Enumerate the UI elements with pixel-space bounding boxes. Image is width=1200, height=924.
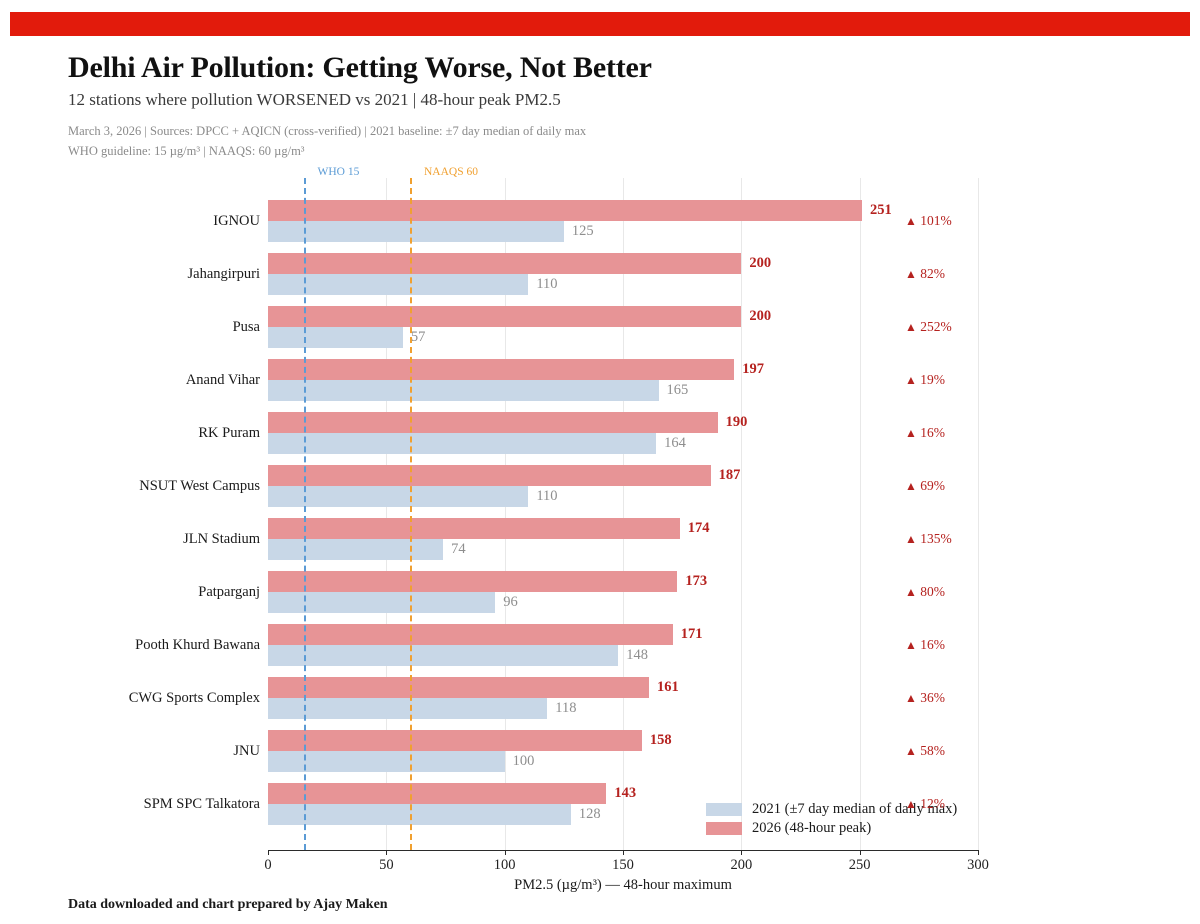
change-pct-label: 80% <box>920 584 945 599</box>
x-tick-label: 150 <box>612 857 634 874</box>
page-subtitle: 12 stations where pollution WORSENED vs … <box>68 90 1068 110</box>
triangle-up-icon: ▲ <box>905 797 917 811</box>
change-pct-label: 16% <box>920 637 945 652</box>
bar-value-2026: 200 <box>749 306 771 327</box>
change-pct-label: 252% <box>920 319 952 334</box>
bar-2021[interactable] <box>268 645 618 666</box>
legend-item[interactable]: 2026 (48-hour peak) <box>706 819 957 838</box>
x-tick <box>978 850 979 855</box>
change-pct-label: 19% <box>920 372 945 387</box>
bar-value-2021: 100 <box>513 751 535 772</box>
bar-2026[interactable] <box>268 730 642 751</box>
source-meta-line-1: March 3, 2026 | Sources: DPCC + AQICN (c… <box>68 121 1068 141</box>
chart-row: 197165 <box>268 359 978 401</box>
bar-value-2021: 128 <box>579 804 601 825</box>
gridline-300 <box>978 178 979 850</box>
bar-value-2021: 74 <box>451 539 466 560</box>
bar-value-2021: 125 <box>572 221 594 242</box>
triangle-up-icon: ▲ <box>905 373 917 387</box>
bar-2021[interactable] <box>268 592 495 613</box>
chart-row: 17396 <box>268 571 978 613</box>
top-red-banner <box>10 12 1190 36</box>
reference-label-who: WHO 15 <box>318 166 360 178</box>
bar-2026[interactable] <box>268 518 680 539</box>
bar-2021[interactable] <box>268 698 547 719</box>
change-badge: ▲ 80% <box>905 583 945 601</box>
bar-value-2026: 174 <box>688 518 710 539</box>
change-pct-label: 16% <box>920 425 945 440</box>
bar-value-2026: 173 <box>685 571 707 592</box>
triangle-up-icon: ▲ <box>905 638 917 652</box>
legend-label: 2026 (48-hour peak) <box>752 820 871 837</box>
bar-2026[interactable] <box>268 677 649 698</box>
chart-row: 158100 <box>268 730 978 772</box>
triangle-up-icon: ▲ <box>905 744 917 758</box>
chart-plot-area: 2511252001102005719716519016418711017474… <box>268 178 978 850</box>
x-axis-title: PM2.5 (µg/m³) — 48-hour maximum <box>268 877 978 894</box>
bar-value-2026: 158 <box>650 730 672 751</box>
change-pct-label: 12% <box>920 796 945 811</box>
change-badge: ▲ 16% <box>905 636 945 654</box>
change-badge: ▲ 69% <box>905 477 945 495</box>
change-pct-label: 36% <box>920 690 945 705</box>
category-label: Pusa <box>30 318 260 336</box>
change-badge: ▲ 19% <box>905 371 945 389</box>
bar-value-2026: 187 <box>719 465 741 486</box>
x-tick <box>623 850 624 855</box>
footer-credit: Data downloaded and chart prepared by Aj… <box>68 897 388 913</box>
x-tick-label: 50 <box>379 857 394 874</box>
category-label: JLN Stadium <box>30 530 260 548</box>
triangle-up-icon: ▲ <box>905 214 917 228</box>
triangle-up-icon: ▲ <box>905 320 917 334</box>
chart-row: 187110 <box>268 465 978 507</box>
chart-row: 251125 <box>268 200 978 242</box>
change-badge: ▲ 252% <box>905 318 952 336</box>
bar-value-2021: 165 <box>667 380 689 401</box>
bar-2026[interactable] <box>268 783 606 804</box>
category-label: Pooth Khurd Bawana <box>30 636 260 654</box>
bar-value-2026: 200 <box>749 253 771 274</box>
bar-value-2021: 96 <box>503 592 518 613</box>
change-badge: ▲ 58% <box>905 742 945 760</box>
reference-line-who <box>304 178 306 850</box>
x-tick <box>860 850 861 855</box>
change-badge: ▲ 36% <box>905 689 945 707</box>
bar-2021[interactable] <box>268 804 571 825</box>
category-label: Patparganj <box>30 583 260 601</box>
x-tick-label: 0 <box>264 857 271 874</box>
category-label: RK Puram <box>30 424 260 442</box>
bar-2021[interactable] <box>268 327 403 348</box>
bar-2021[interactable] <box>268 539 443 560</box>
chart-page: Delhi Air Pollution: Getting Worse, Not … <box>0 0 1200 924</box>
bar-value-2021: 148 <box>626 645 648 666</box>
bar-2026[interactable] <box>268 465 711 486</box>
bar-2021[interactable] <box>268 274 528 295</box>
chart-row: 190164 <box>268 412 978 454</box>
source-meta-line-2: WHO guideline: 15 µg/m³ | NAAQS: 60 µg/m… <box>68 141 1068 161</box>
bar-value-2021: 164 <box>664 433 686 454</box>
category-label: Anand Vihar <box>30 371 260 389</box>
bar-value-2026: 251 <box>870 200 892 221</box>
triangle-up-icon: ▲ <box>905 426 917 440</box>
change-badge: ▲ 16% <box>905 424 945 442</box>
page-title: Delhi Air Pollution: Getting Worse, Not … <box>68 52 1068 84</box>
bar-2026[interactable] <box>268 359 734 380</box>
triangle-up-icon: ▲ <box>905 267 917 281</box>
category-label: CWG Sports Complex <box>30 689 260 707</box>
bar-value-2021: 110 <box>536 486 557 507</box>
x-tick-label: 100 <box>494 857 516 874</box>
bar-2026[interactable] <box>268 306 741 327</box>
change-pct-label: 82% <box>920 266 945 281</box>
bar-value-2021: 57 <box>411 327 426 348</box>
bar-2026[interactable] <box>268 624 673 645</box>
bar-value-2026: 190 <box>726 412 748 433</box>
x-tick-label: 300 <box>967 857 989 874</box>
change-pct-label: 69% <box>920 478 945 493</box>
bar-2026[interactable] <box>268 200 862 221</box>
source-meta: March 3, 2026 | Sources: DPCC + AQICN (c… <box>68 121 1068 162</box>
x-tick-label: 250 <box>849 857 871 874</box>
bar-value-2021: 118 <box>555 698 576 719</box>
bar-2021[interactable] <box>268 221 564 242</box>
category-label: IGNOU <box>30 212 260 230</box>
change-pct-label: 101% <box>920 213 952 228</box>
change-badge: ▲ 101% <box>905 212 952 230</box>
bar-2021[interactable] <box>268 433 656 454</box>
bar-value-2026: 161 <box>657 677 679 698</box>
category-label: NSUT West Campus <box>30 477 260 495</box>
change-badge: ▲ 135% <box>905 530 952 548</box>
bar-2021[interactable] <box>268 380 659 401</box>
header-block: Delhi Air Pollution: Getting Worse, Not … <box>68 52 1068 161</box>
legend-swatch <box>706 803 742 816</box>
chart-row: 20057 <box>268 306 978 348</box>
bar-value-2026: 171 <box>681 624 703 645</box>
change-pct-label: 58% <box>920 743 945 758</box>
change-badge: ▲ 82% <box>905 265 945 283</box>
x-tick <box>268 850 269 855</box>
triangle-up-icon: ▲ <box>905 691 917 705</box>
bar-value-2026: 197 <box>742 359 764 380</box>
bar-2021[interactable] <box>268 486 528 507</box>
chart-row: 161118 <box>268 677 978 719</box>
category-label: Jahangirpuri <box>30 265 260 283</box>
chart-row: 17474 <box>268 518 978 560</box>
bar-2026[interactable] <box>268 412 718 433</box>
bar-value-2026: 143 <box>614 783 636 804</box>
change-pct-label: 135% <box>920 531 952 546</box>
category-label: JNU <box>30 742 260 760</box>
bar-2026[interactable] <box>268 253 741 274</box>
x-tick <box>741 850 742 855</box>
triangle-up-icon: ▲ <box>905 532 917 546</box>
x-tick <box>386 850 387 855</box>
chart-row: 200110 <box>268 253 978 295</box>
triangle-up-icon: ▲ <box>905 479 917 493</box>
x-tick <box>505 850 506 855</box>
chart-row: 171148 <box>268 624 978 666</box>
triangle-up-icon: ▲ <box>905 585 917 599</box>
bar-2026[interactable] <box>268 571 677 592</box>
x-tick-label: 200 <box>730 857 752 874</box>
reference-line-naaqs <box>410 178 412 850</box>
change-badge: ▲ 12% <box>905 795 945 813</box>
reference-label-naaqs: NAAQS 60 <box>424 166 478 178</box>
bar-value-2021: 110 <box>536 274 557 295</box>
category-label: SPM SPC Talkatora <box>30 795 260 813</box>
legend-swatch <box>706 822 742 835</box>
